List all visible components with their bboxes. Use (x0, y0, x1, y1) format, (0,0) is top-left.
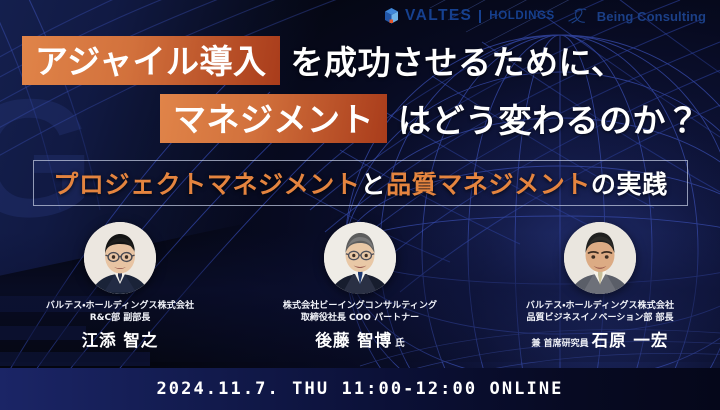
speaker-card: バルテス・ホールディングス株式会社 R&C部 副部長 江添 智之 (0, 222, 240, 351)
speaker-name: 石原 一宏 (592, 327, 669, 351)
speaker-org: バルテス・ホールディングス株式会社 (46, 301, 194, 313)
headline-text-2: はどう変わるのか？ (398, 94, 700, 142)
subtitle-text: プロジェクトマネジメント と 品質マネジメント の実践 (33, 160, 688, 206)
speaker-name: 後藤 智博 (315, 327, 392, 351)
headline-text-1: を成功させるために、 (291, 36, 625, 84)
being-consulting-wordmark: Being Consulting (597, 9, 706, 24)
speaker-name-suffix: 氏 (395, 335, 405, 349)
being-consulting-logo: Being Consulting (567, 6, 706, 26)
speaker-org: 株式会社ビーイングコンサルティング (283, 301, 437, 313)
speakers-row: バルテス・ホールディングス株式会社 R&C部 副部長 江添 智之 (0, 222, 720, 351)
webinar-banner: G (0, 0, 720, 410)
speaker-photo-ezoe (84, 222, 156, 294)
subtitle-part-quality-management: 品質マネジメント (386, 165, 591, 201)
headline-block: アジャイル導入 を成功させるために、 マネジメント はどう変わるのか？ (0, 34, 720, 144)
speaker-name: 江添 智之 (82, 327, 159, 351)
subtitle-part-practice: の実践 (591, 165, 668, 201)
speaker-card: バルテス・ホールディングス株式会社 品質ビジネスイノベーション部 部長 兼 首席… (480, 222, 720, 351)
speaker-title: R&C部 副部長 (90, 313, 151, 325)
speaker-name-prefix: 兼 首席研究員 (532, 336, 589, 349)
headline-line-1: アジャイル導入 を成功させるために、 (0, 34, 720, 86)
footer-schedule-bar: 2024.11.7. THU 11:00-12:00 ONLINE (0, 368, 720, 410)
valtes-cube-icon (383, 7, 400, 25)
subtitle-part-project-management: プロジェクトマネジメント (53, 165, 360, 201)
valtes-holdings-logo: VALTES HOLDINGS (383, 7, 555, 25)
speaker-photo-ishihara (564, 222, 636, 294)
headline-highlight-agile: アジャイル導入 (22, 36, 280, 85)
headline-line-2: マネジメント はどう変わるのか？ (0, 92, 720, 144)
speaker-name-row: 兼 首席研究員 石原 一宏 (532, 327, 669, 351)
schedule-text: 2024.11.7. THU 11:00-12:00 ONLINE (156, 379, 563, 399)
speaker-photo-goto (324, 222, 396, 294)
subtitle-part-conjunction: と (360, 165, 386, 201)
speaker-card: 株式会社ビーイングコンサルティング 取締役社長 COO パートナー 後藤 智博 … (240, 222, 480, 351)
speaker-name-row: 江添 智之 (82, 327, 159, 351)
valtes-holdings-wordmark: HOLDINGS (489, 10, 555, 22)
valtes-wordmark: VALTES (405, 8, 472, 24)
speaker-title: 取締役社長 COO パートナー (301, 313, 419, 325)
being-monogram-icon (567, 6, 592, 26)
subtitle-block: プロジェクトマネジメント と 品質マネジメント の実践 (33, 160, 688, 206)
header-logo-bar: VALTES HOLDINGS Being Consulting (383, 6, 706, 26)
valtes-logo-separator (479, 10, 481, 23)
speaker-name-row: 後藤 智博 氏 (315, 327, 404, 351)
speaker-title: 品質ビジネスイノベーション部 部長 (527, 313, 674, 325)
headline-highlight-management: マネジメント (160, 94, 387, 143)
speaker-org: バルテス・ホールディングス株式会社 (526, 301, 674, 313)
